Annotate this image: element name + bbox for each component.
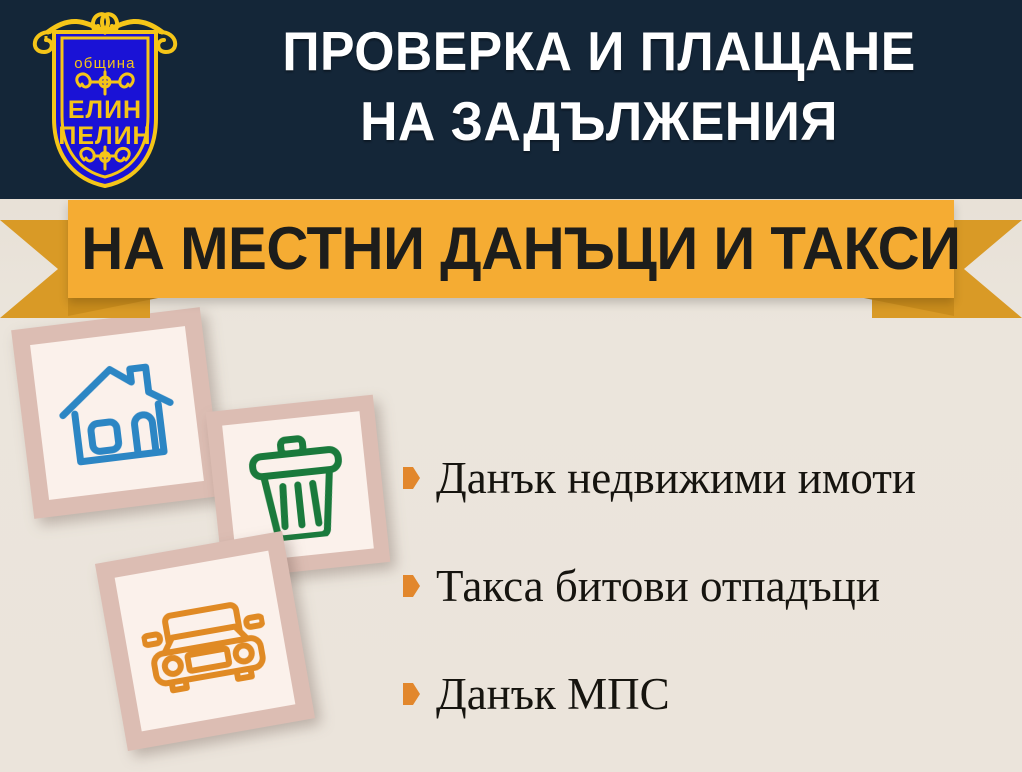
tax-list: Данък недвижими имоти Такса битови отпад… — [403, 424, 1018, 748]
trash-bin-icon — [244, 430, 352, 544]
list-item-label: Данък МПС — [436, 670, 670, 718]
emblem-line-top: община — [74, 55, 135, 72]
ribbon-banner: НА МЕСТНИ ДАНЪЦИ И ТАКСИ — [0, 198, 1022, 320]
coat-of-arms-icon: община ЕЛИН ПЕЛИН — [24, 6, 186, 192]
page-title-line-2: НА ЗАДЪЛЖЕНИЯ — [215, 86, 984, 156]
page-title: ПРОВЕРКА И ПЛАЩАНЕ НА ЗАДЪЛЖЕНИЯ — [215, 16, 984, 156]
list-item[interactable]: Данък МПС — [403, 640, 1018, 748]
page-title-line-1: ПРОВЕРКА И ПЛАЩАНЕ — [282, 20, 915, 82]
house-icon — [51, 354, 183, 472]
ribbon-text: НА МЕСТНИ ДАНЪЦИ И ТАКСИ — [81, 200, 940, 298]
list-item[interactable]: Такса битови отпадъци — [403, 532, 1018, 640]
header-banner: община ЕЛИН ПЕЛИН — [0, 0, 1022, 199]
arrow-bullet-icon — [403, 575, 420, 597]
stamp-card-vehicle — [95, 531, 315, 751]
stamp-card-property — [11, 307, 223, 519]
stamp-cards-group — [0, 300, 420, 772]
list-item-label: Такса битови отпадъци — [436, 562, 880, 610]
arrow-bullet-icon — [403, 683, 420, 705]
ribbon-main-band: НА МЕСТНИ ДАНЪЦИ И ТАКСИ — [68, 200, 954, 298]
list-item-label: Данък недвижими имоти — [436, 454, 916, 502]
poster-root: община ЕЛИН ПЕЛИН — [0, 0, 1022, 772]
emblem-line-mid: ЕЛИН — [68, 96, 142, 124]
arrow-bullet-icon — [403, 467, 420, 489]
emblem: община ЕЛИН ПЕЛИН — [24, 6, 186, 192]
list-item[interactable]: Данък недвижими имоти — [403, 424, 1018, 532]
